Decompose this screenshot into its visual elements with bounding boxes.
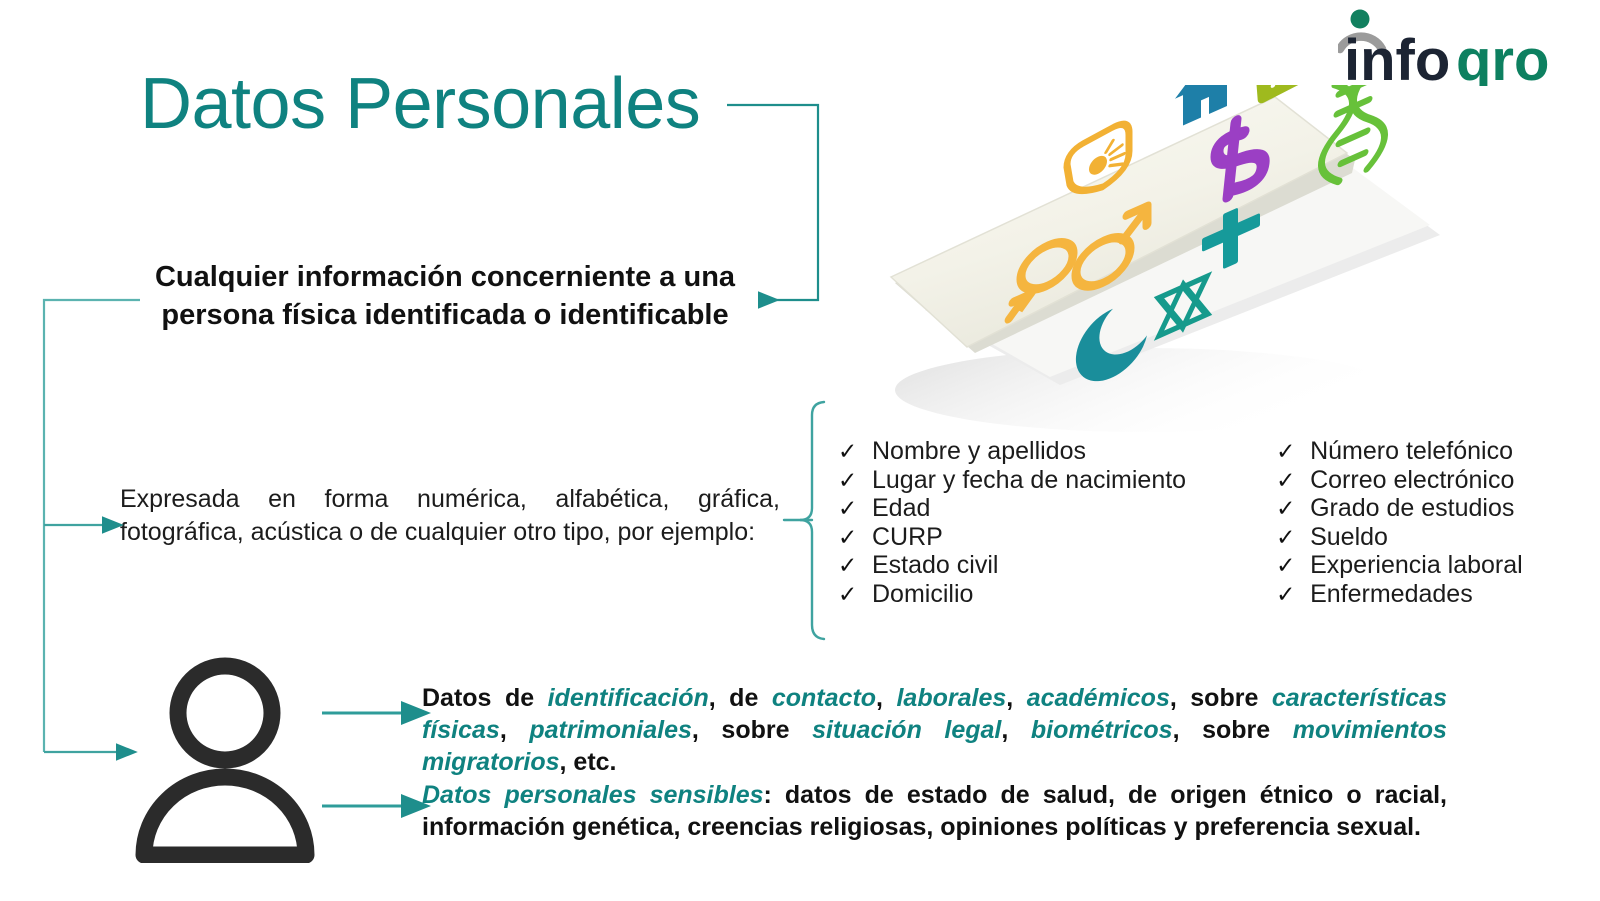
person-silhouette-icon [135, 655, 315, 863]
list-item-label: Domicilio [872, 580, 973, 609]
folder-shadow [895, 348, 1395, 432]
check-icon: ✓ [1276, 437, 1310, 466]
list-item: ✓ Grado de estudios [1276, 494, 1523, 523]
check-icon: ✓ [1276, 523, 1310, 552]
check-icon: ✓ [838, 580, 872, 609]
checklist-column-left: ✓ Nombre y apellidos ✓ Lugar y fecha de … [838, 437, 1186, 609]
plain-run: , [1006, 684, 1026, 712]
list-item: ✓ CURP [838, 523, 1186, 552]
examples-checklist: ✓ Nombre y apellidos ✓ Lugar y fecha de … [838, 437, 1578, 609]
highlight-term: contacto [772, 684, 876, 712]
list-item-label: Sueldo [1310, 523, 1388, 552]
list-item-label: Estado civil [872, 551, 998, 580]
list-item-label: Correo electrónico [1310, 466, 1514, 495]
plain-run: , sobre [1170, 684, 1272, 712]
highlight-term: biométricos [1031, 716, 1173, 744]
slide-canvas: info qro infoqro Datos Personales Cualqu… [0, 0, 1600, 901]
check-icon: ✓ [1276, 551, 1310, 580]
list-item: ✓ Edad [838, 494, 1186, 523]
list-item: ✓ Estado civil [838, 551, 1186, 580]
list-item: ✓ Sueldo [1276, 523, 1523, 552]
list-item: ✓ Experiencia laboral [1276, 551, 1523, 580]
check-icon: ✓ [1276, 580, 1310, 609]
highlight-term: identificación [548, 684, 709, 712]
logo-svg: info qro [1338, 8, 1588, 86]
list-item: ✓ Enfermedades [1276, 580, 1523, 609]
list-item: ✓ Domicilio [838, 580, 1186, 609]
plain-run: , etc. [560, 748, 617, 776]
folder-illustration-svg [855, 85, 1455, 435]
check-icon: ✓ [1276, 466, 1310, 495]
highlight-term: situación legal [812, 716, 1001, 744]
infoqro-logo: info qro infoqro [1338, 8, 1588, 86]
list-item: ✓ Nombre y apellidos [838, 437, 1186, 466]
data-types-paragraph: Datos de identificación, de contacto, la… [422, 682, 1447, 778]
check-icon: ✓ [838, 523, 872, 552]
logo-dot-icon [1351, 10, 1370, 29]
list-item: ✓ Número telefónico [1276, 437, 1523, 466]
folder-with-personal-data-symbols [855, 85, 1455, 435]
plain-run: , [876, 684, 896, 712]
list-item-label: Lugar y fecha de nacimiento [872, 466, 1186, 495]
highlight-term: Datos personales sensibles [422, 781, 764, 809]
check-icon: ✓ [838, 494, 872, 523]
check-icon: ✓ [838, 551, 872, 580]
checklist-brace [800, 402, 824, 639]
list-item-label: Nombre y apellidos [872, 437, 1086, 466]
expressed-text: Expresada en forma numérica, alfabética,… [120, 483, 780, 548]
list-item-label: Experiencia laboral [1310, 551, 1523, 580]
list-item: ✓ Correo electrónico [1276, 466, 1523, 495]
list-item-label: Edad [872, 494, 930, 523]
plain-run: Datos de [422, 684, 548, 712]
highlight-term: patrimoniales [529, 716, 692, 744]
checklist-column-right: ✓ Número telefónico ✓ Correo electrónico… [1276, 437, 1523, 609]
list-item-label: Grado de estudios [1310, 494, 1514, 523]
plain-run: , [1001, 716, 1031, 744]
plain-run: , sobre [1173, 716, 1293, 744]
person-icon-svg [135, 655, 315, 863]
page-title: Datos Personales [140, 68, 700, 140]
logo-info-text: info [1344, 28, 1450, 86]
list-item-label: Enfermedades [1310, 580, 1473, 609]
list-item: ✓ Lugar y fecha de nacimiento [838, 466, 1186, 495]
list-item-label: Número telefónico [1310, 437, 1513, 466]
check-icon: ✓ [1276, 494, 1310, 523]
plain-run: , sobre [692, 716, 812, 744]
logo-qro-text: qro [1456, 28, 1549, 86]
highlight-term: laborales [896, 684, 1006, 712]
check-icon: ✓ [838, 437, 872, 466]
check-icon: ✓ [838, 466, 872, 495]
sensitive-data-paragraph: Datos personales sensibles: datos de est… [422, 779, 1447, 843]
highlight-term: académicos [1027, 684, 1170, 712]
definition-text: Cualquier información concerniente a una… [135, 258, 755, 335]
plain-run: , de [709, 684, 772, 712]
plain-run: , [500, 716, 530, 744]
list-item-label: CURP [872, 523, 943, 552]
